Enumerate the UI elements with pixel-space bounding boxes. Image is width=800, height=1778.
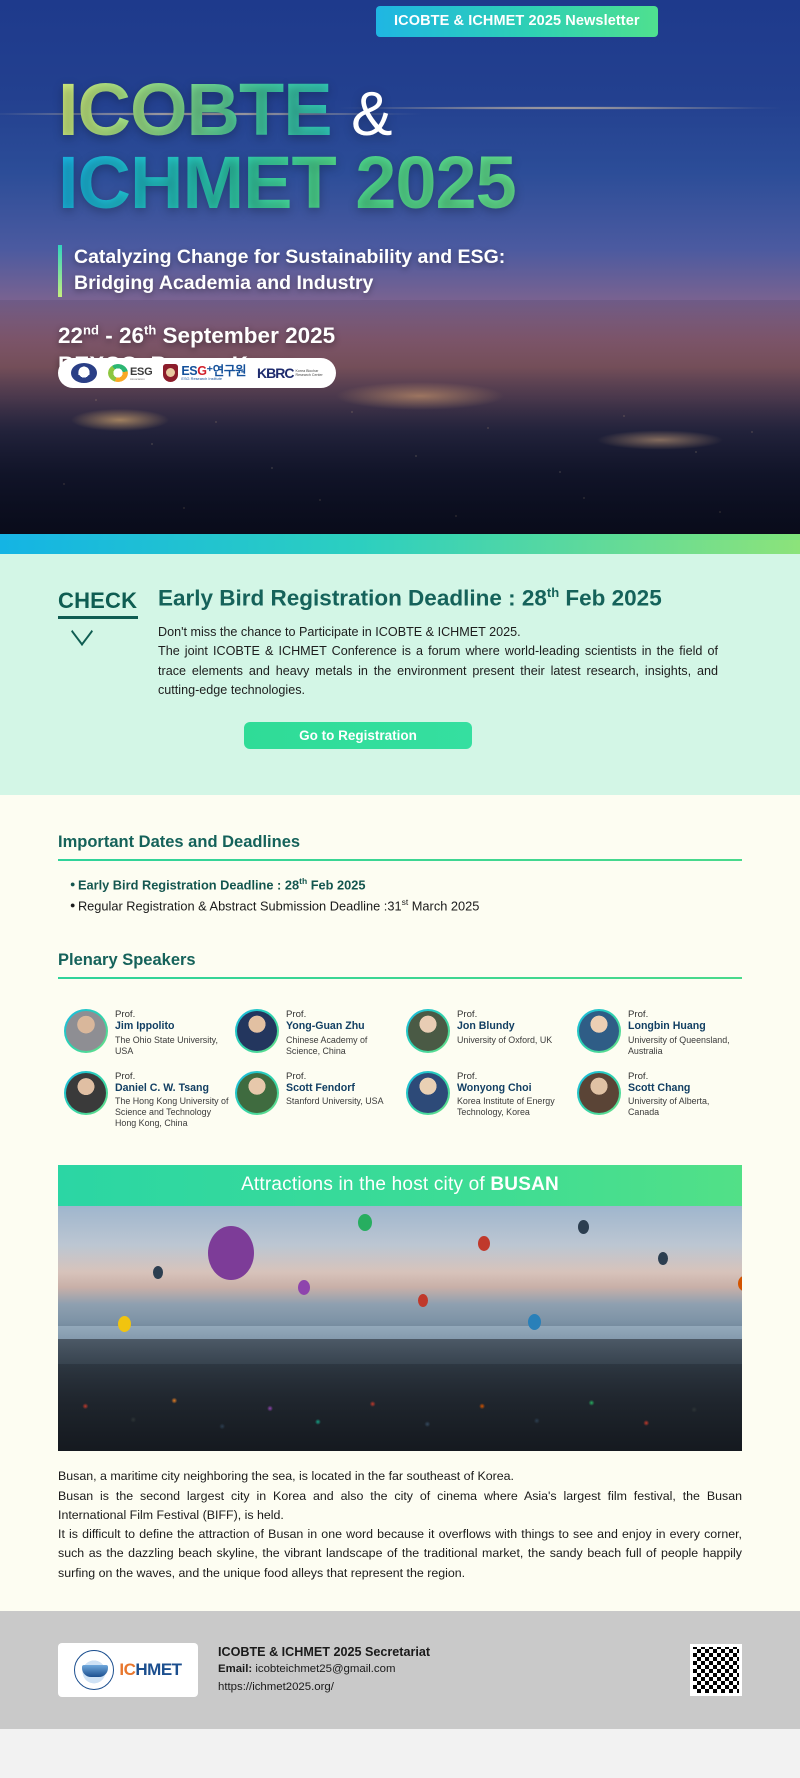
busan-description: Busan, a maritime city neighboring the s… — [58, 1451, 742, 1582]
speaker-title: Prof. — [457, 1071, 571, 1083]
check-badge: CHECK — [58, 586, 152, 749]
conference-dates: 22nd - 26th September 2025 — [58, 321, 800, 350]
speaker-title: Prof. — [115, 1009, 229, 1021]
conference-title-line-2: ICHMET 2025 — [58, 147, 800, 220]
speaker-avatar — [235, 1009, 279, 1053]
balloon — [738, 1276, 742, 1291]
balloon-large-purple — [208, 1226, 254, 1280]
speaker-avatar — [406, 1009, 450, 1053]
balloon — [153, 1266, 163, 1279]
ist-b-logo — [71, 363, 97, 383]
busan-description-line-3: It is difficult to define the attraction… — [58, 1525, 742, 1583]
speaker-avatar — [64, 1071, 108, 1115]
gradient-divider-bar — [0, 540, 800, 554]
go-to-registration-button[interactable]: Go to Registration — [244, 722, 472, 749]
conference-title-line-1: ICOBTE & — [58, 74, 800, 147]
email-label: Email: — [218, 1663, 252, 1675]
secretariat-name: ICOBTE & ICHMET 2025 Secretariat — [218, 1643, 670, 1662]
early-bird-deadline-title: Early Bird Registration Deadline : 28th … — [158, 586, 742, 611]
kbrc-sub-label: Korea BiocharResearch Center — [296, 369, 323, 378]
speaker-name: Daniel C. W. Tsang — [115, 1082, 229, 1095]
balloon — [528, 1314, 541, 1330]
festival-crowd — [58, 1339, 742, 1451]
hero-banner: ICOBTE & ICHMET 2025 Newsletter ICOBTE &… — [0, 0, 800, 540]
balloon — [658, 1252, 668, 1265]
esg-association-logo: ESGAssociation — [108, 364, 152, 382]
attractions-heading-city: BUSAN — [490, 1174, 559, 1195]
esg-research-institute-logo: ESG⁺연구원ESG Research Institute — [163, 364, 246, 382]
important-date-item: Regular Registration & Abstract Submissi… — [70, 896, 742, 917]
plenary-speakers-section: Plenary Speakers Prof.Jim IppolitoThe Oh… — [58, 951, 742, 1130]
speaker-affiliation: University of Alberta, Canada — [628, 1096, 742, 1118]
speaker-card[interactable]: Prof.Wonyong ChoiKorea Institute of Ener… — [406, 1071, 571, 1130]
speaker-affiliation: Chinese Academy of Science, China — [286, 1035, 400, 1057]
registration-band: CHECK Early Bird Registration Deadline :… — [0, 540, 800, 795]
esg-swirl-icon — [108, 364, 128, 382]
balloons-decoration — [58, 1206, 742, 1356]
speaker-avatar — [235, 1071, 279, 1115]
speaker-card[interactable]: Prof.Jim IppolitoThe Ohio State Universi… — [64, 1009, 229, 1057]
speaker-affiliation: The Ohio State University, USA — [115, 1035, 229, 1057]
speaker-title: Prof. — [628, 1009, 742, 1021]
speaker-card[interactable]: Prof.Longbin HuangUniversity of Queensla… — [577, 1009, 742, 1057]
kbrc-logo: KBRC Korea BiocharResearch Center — [257, 366, 323, 380]
speaker-name: Jon Blundy — [457, 1020, 552, 1033]
busan-description-line-2: Busan is the second largest city in Kore… — [58, 1487, 742, 1525]
speaker-card[interactable]: Prof.Scott FendorfStanford University, U… — [235, 1071, 400, 1130]
speaker-name: Wonyong Choi — [457, 1082, 571, 1095]
balloon — [118, 1316, 131, 1332]
sponsor-logo-strip: ESGAssociation ESG⁺연구원ESG Research Insti… — [58, 358, 336, 388]
subtitle-line-2: Bridging Academia and Industry — [74, 271, 800, 297]
speaker-card[interactable]: Prof.Daniel C. W. TsangThe Hong Kong Uni… — [64, 1071, 229, 1130]
plenary-speakers-grid: Prof.Jim IppolitoThe Ohio State Universi… — [58, 993, 742, 1130]
speaker-avatar — [577, 1071, 621, 1115]
korea-university-shield-icon — [163, 364, 178, 382]
newsletter-page: ICOBTE & ICHMET 2025 Newsletter ICOBTE &… — [0, 0, 800, 1778]
speaker-title: Prof. — [115, 1071, 229, 1083]
kbrc-label: KBRC — [257, 366, 293, 380]
newsletter-badge: ICOBTE & ICHMET 2025 Newsletter — [376, 6, 658, 37]
speaker-title: Prof. — [457, 1009, 552, 1021]
date-end-suffix: th — [144, 322, 156, 337]
speaker-affiliation: The Hong Kong University of Science and … — [115, 1096, 229, 1129]
institution-seal-icon — [74, 1650, 114, 1690]
esg-association-label: ESGAssociation — [130, 366, 152, 381]
balloon — [478, 1236, 490, 1251]
date-item-text: Regular Registration & Abstract Submissi… — [78, 898, 402, 913]
secretariat-email: Email: icobteichmet25@gmail.com — [218, 1661, 670, 1679]
balloon — [358, 1214, 372, 1231]
logo-text-hmet: HMET — [135, 1660, 181, 1679]
ichmet-logo-text: ICHMET — [119, 1660, 181, 1680]
busan-description-line-1: Busan, a maritime city neighboring the s… — [58, 1467, 742, 1486]
subtitle-line-1: Catalyzing Change for Sustainability and… — [74, 245, 800, 271]
speaker-card[interactable]: Prof.Jon BlundyUniversity of Oxford, UK — [406, 1009, 571, 1057]
email-value[interactable]: icobteichmet25@gmail.com — [255, 1663, 395, 1675]
title-ichmet: ICHMET — [58, 141, 336, 224]
speaker-name: Scott Fendorf — [286, 1082, 384, 1095]
qr-code[interactable] — [690, 1644, 742, 1696]
deadline-title-sup: th — [547, 585, 559, 600]
date-month-year: September 2025 — [163, 323, 336, 348]
title-icobte: ICOBTE — [58, 68, 332, 151]
date-item-suffix: March 2025 — [408, 898, 479, 913]
deadline-title-prefix: Early Bird Registration Deadline : 28 — [158, 586, 547, 611]
speaker-affiliation: Stanford University, USA — [286, 1096, 384, 1107]
speaker-name: Yong-Guan Zhu — [286, 1020, 400, 1033]
speaker-avatar — [577, 1009, 621, 1053]
conference-subtitle: Catalyzing Change for Sustainability and… — [58, 245, 800, 296]
title-year: 2025 — [355, 141, 516, 224]
attractions-heading-prefix: Attractions in the host city of — [241, 1174, 490, 1195]
speaker-affiliation: Korea Institute of Energy Technology, Ko… — [457, 1096, 571, 1118]
speaker-title: Prof. — [286, 1009, 400, 1021]
speaker-title: Prof. — [628, 1071, 742, 1083]
attractions-section: Attractions in the host city of BUSAN — [58, 1165, 742, 1582]
speaker-name: Longbin Huang — [628, 1020, 742, 1033]
speaker-card[interactable]: Prof.Scott ChangUniversity of Alberta, C… — [577, 1071, 742, 1130]
balloon — [298, 1280, 310, 1295]
speaker-name: Scott Chang — [628, 1082, 742, 1095]
title-ampersand: & — [351, 80, 391, 149]
speaker-name: Jim Ippolito — [115, 1020, 229, 1033]
speaker-affiliation: University of Queensland, Australia — [628, 1035, 742, 1057]
important-dates-heading: Important Dates and Deadlines — [58, 833, 742, 859]
check-chevron-icon — [58, 616, 152, 630]
date-item-suffix: Feb 2025 — [307, 877, 365, 892]
busan-balloon-festival-image — [58, 1206, 742, 1451]
date-end-day: 26 — [119, 323, 144, 348]
date-separator: - — [105, 323, 113, 348]
registration-body-text: Don't miss the chance to Participate in … — [158, 623, 718, 700]
check-label: CHECK — [58, 588, 152, 614]
footer: ICHMET ICOBTE & ICHMET 2025 Secretariat … — [0, 1611, 800, 1729]
date-start-suffix: nd — [83, 322, 99, 337]
date-start-day: 22 — [58, 323, 83, 348]
registration-body-line-2: The joint ICOBTE & ICHMET Conference is … — [158, 642, 718, 699]
speaker-avatar — [406, 1071, 450, 1115]
attractions-heading: Attractions in the host city of BUSAN — [58, 1165, 742, 1206]
ichmet-footer-logo: ICHMET — [58, 1643, 198, 1697]
plenary-speakers-heading: Plenary Speakers — [58, 951, 742, 977]
speaker-title: Prof. — [286, 1071, 384, 1083]
important-dates-section: Important Dates and Deadlines Early Bird… — [58, 833, 742, 917]
important-dates-list: Early Bird Registration Deadline : 28th … — [58, 875, 742, 917]
date-item-sup: th — [299, 876, 307, 886]
speaker-avatar — [64, 1009, 108, 1053]
speaker-affiliation: University of Oxford, UK — [457, 1035, 552, 1046]
speaker-card[interactable]: Prof.Yong-Guan ZhuChinese Academy of Sci… — [235, 1009, 400, 1057]
footer-contact-info: ICOBTE & ICHMET 2025 Secretariat Email: … — [218, 1643, 670, 1697]
deadline-title-suffix: Feb 2025 — [559, 586, 662, 611]
secretariat-website[interactable]: https://ichmet2025.org/ — [218, 1679, 670, 1697]
logo-text-ic: IC — [119, 1660, 135, 1679]
section-divider — [58, 859, 742, 861]
balloon — [578, 1220, 589, 1234]
important-date-item: Early Bird Registration Deadline : 28th … — [70, 875, 742, 896]
section-divider — [58, 977, 742, 979]
balloon — [418, 1294, 428, 1307]
esg-research-institute-label: ESG⁺연구원ESG Research Institute — [181, 365, 246, 381]
registration-body-line-1: Don't miss the chance to Participate in … — [158, 623, 718, 642]
date-item-text: Early Bird Registration Deadline : 28 — [78, 877, 299, 892]
main-content: Important Dates and Deadlines Early Bird… — [0, 795, 800, 1611]
